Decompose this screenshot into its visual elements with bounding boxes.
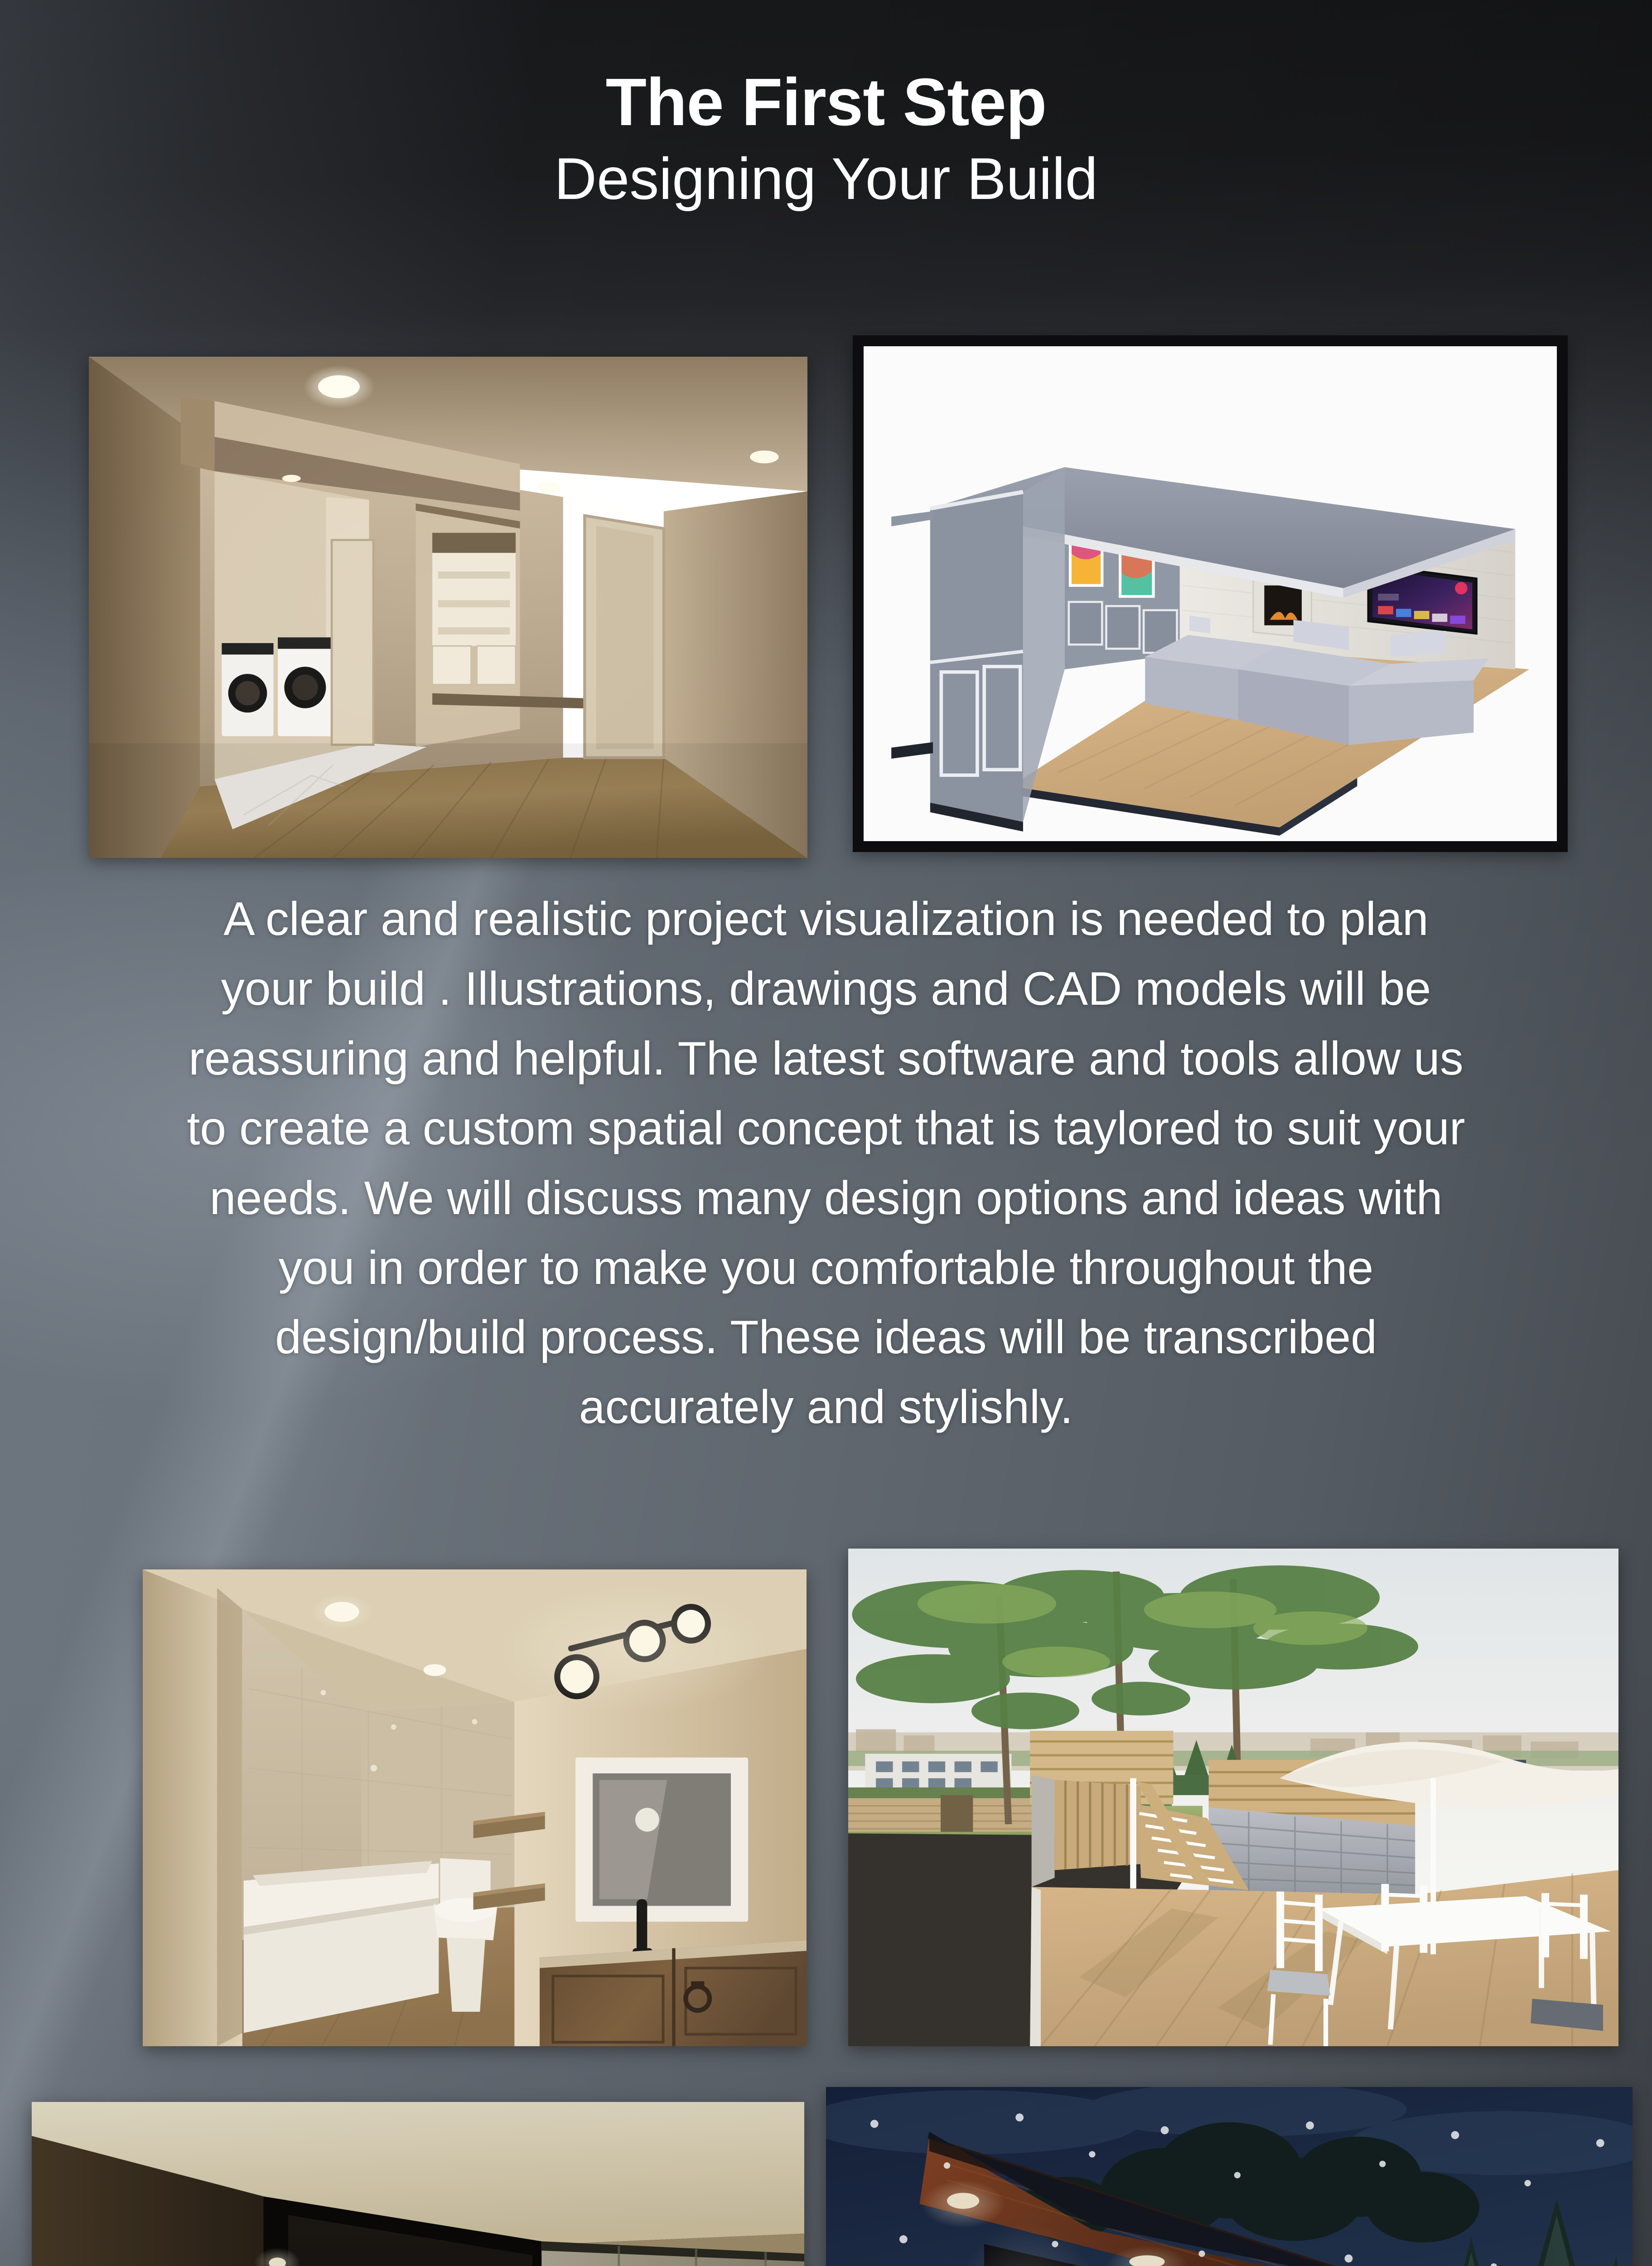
page-title: The First Step Designing Your Build [0, 69, 1652, 210]
gallery-image-wine-wall [32, 2102, 804, 2266]
poster-page: The First Step Designing Your Build A cl… [0, 0, 1652, 2266]
night-pavilion-render [826, 2087, 1633, 2266]
wine-wall-render [32, 2102, 804, 2266]
title-subtitle: Designing Your Build [0, 148, 1652, 210]
gallery-image-night-pavilion [826, 2087, 1633, 2266]
gallery-image-bathroom [143, 1569, 807, 2046]
gallery-image-laundry-room [89, 357, 807, 858]
gallery-image-deck-patio [848, 1549, 1618, 2046]
body-paragraph: A clear and realistic project visualizat… [174, 885, 1478, 1443]
bathroom-render [143, 1569, 807, 2046]
deck-patio-render [848, 1549, 1618, 2046]
cad-living-room-render [864, 346, 1557, 841]
gallery-image-cad-model [853, 335, 1568, 852]
laundry-room-render [89, 357, 807, 858]
title-main: The First Step [0, 69, 1652, 136]
